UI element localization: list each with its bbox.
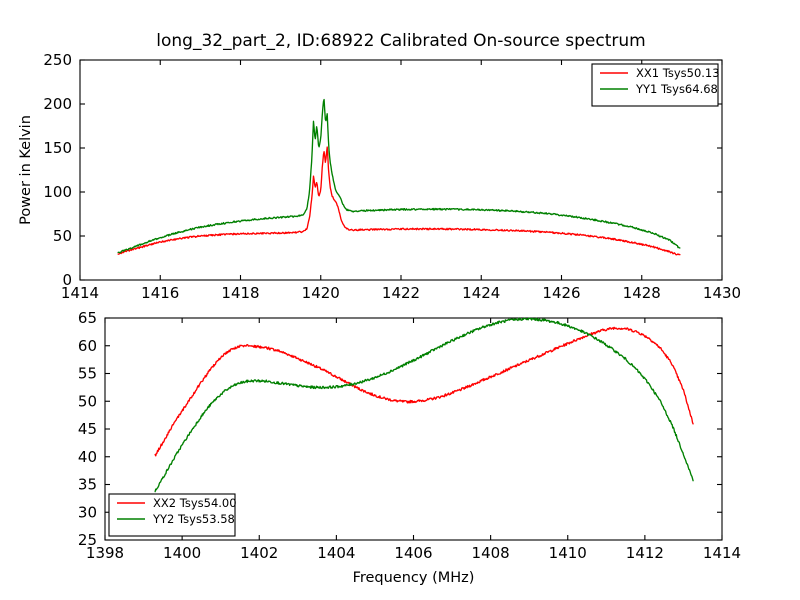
x-tick-label: 1424 xyxy=(462,284,500,302)
y-tick-label: 200 xyxy=(43,95,72,113)
panel-title: long_32_part_2, ID:68922 Calibrated On-s… xyxy=(156,31,645,51)
y-tick-label: 45 xyxy=(78,420,97,438)
trace-XX2 xyxy=(155,327,693,455)
legend-label: XX2 Tsys54.00 xyxy=(153,496,237,510)
spectrum-figure: 1414141614181420142214241426142814300501… xyxy=(0,0,800,600)
x-tick-label: 1422 xyxy=(382,284,420,302)
y-tick-label: 50 xyxy=(78,392,97,410)
plot-canvas: 1414141614181420142214241426142814300501… xyxy=(0,0,800,600)
panel-lower-panel: 1398140014021404140614081410141214142530… xyxy=(78,309,741,586)
trace-XX1 xyxy=(118,147,680,255)
y-tick-label: 40 xyxy=(78,448,97,466)
y-tick-label: 65 xyxy=(78,309,97,327)
legend-label: XX1 Tsys50.13 xyxy=(636,66,720,80)
y-tick-label: 50 xyxy=(53,227,72,245)
y-tick-label: 100 xyxy=(43,183,72,201)
x-axis-label: Frequency (MHz) xyxy=(353,570,475,586)
x-tick-label: 1414 xyxy=(703,544,741,562)
y-tick-label: 60 xyxy=(78,337,97,355)
legend-lower[interactable]: XX2 Tsys54.00YY2 Tsys53.58 xyxy=(109,494,237,536)
x-tick-label: 1420 xyxy=(302,284,340,302)
legend-upper[interactable]: XX1 Tsys50.13YY1 Tsys64.68 xyxy=(592,64,720,106)
x-tick-label: 1426 xyxy=(542,284,580,302)
y-tick-label: 55 xyxy=(78,365,97,383)
y-tick-label: 150 xyxy=(43,139,72,157)
x-tick-label: 1428 xyxy=(623,284,661,302)
y-tick-label: 30 xyxy=(78,503,97,521)
x-tick-label: 1430 xyxy=(703,284,741,302)
x-tick-label: 1416 xyxy=(141,284,179,302)
x-tick-label: 1402 xyxy=(240,544,278,562)
y-axis-label: Power in Kelvin xyxy=(18,115,34,225)
legend-label: YY2 Tsys53.58 xyxy=(152,512,235,526)
x-tick-label: 1412 xyxy=(626,544,664,562)
x-tick-label: 1410 xyxy=(549,544,587,562)
x-tick-label: 1400 xyxy=(163,544,201,562)
x-tick-label: 1404 xyxy=(317,544,355,562)
trace-YY2 xyxy=(155,318,693,491)
y-tick-label: 35 xyxy=(78,476,97,494)
panel-upper-panel: 1414141614181420142214241426142814300501… xyxy=(18,31,741,302)
y-tick-label: 250 xyxy=(43,51,72,69)
y-tick-label: 0 xyxy=(62,271,72,289)
y-tick-label: 25 xyxy=(78,531,97,549)
legend-label: YY1 Tsys64.68 xyxy=(635,82,718,96)
x-tick-label: 1406 xyxy=(394,544,432,562)
x-tick-label: 1408 xyxy=(472,544,510,562)
x-tick-label: 1418 xyxy=(221,284,259,302)
